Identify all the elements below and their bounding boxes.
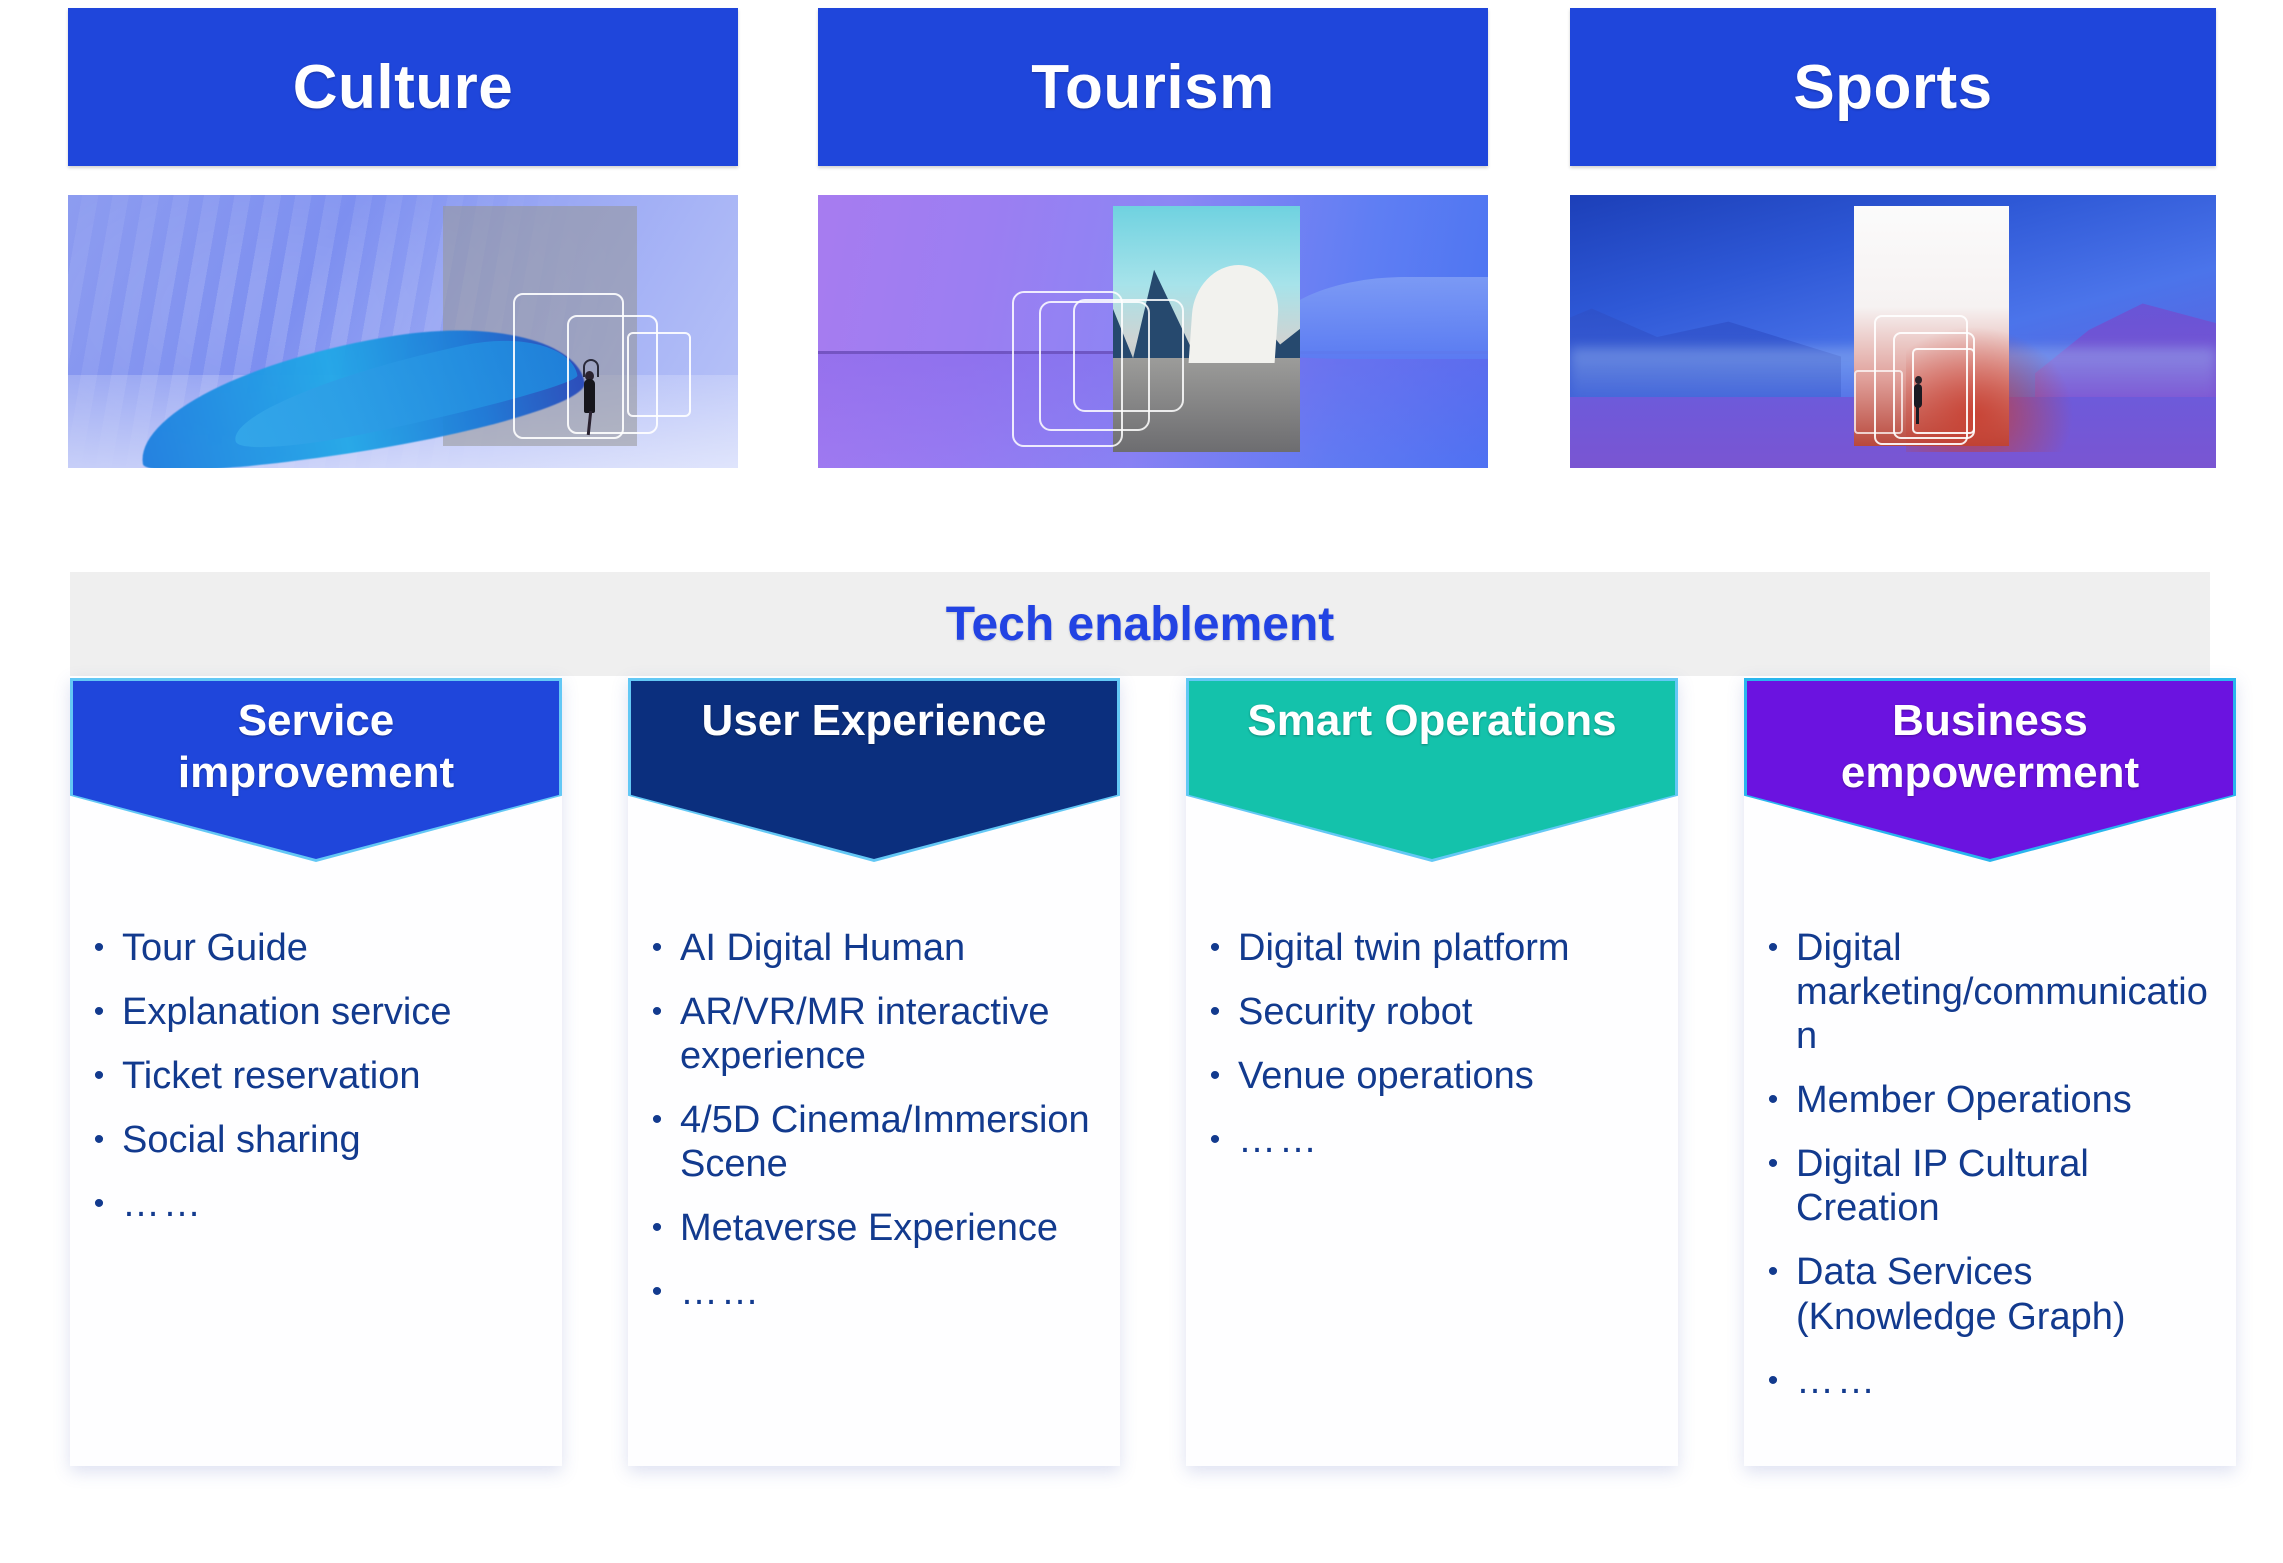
list-item: • Digital IP Cultural Creation: [1750, 1142, 2230, 1230]
list-item-label: Ticket reservation: [122, 1054, 556, 1098]
domain-title-culture: Culture: [293, 52, 514, 123]
pillar-bullet-list: • Digital marketing/communication • Memb…: [1744, 926, 2236, 1423]
pillar-bullet-list: • Tour Guide • Explanation service • Tic…: [70, 926, 562, 1246]
domain-panel-sports: Sports: [1570, 0, 2216, 570]
bullet-marker-icon: •: [76, 1182, 122, 1226]
list-item: • Security robot: [1192, 990, 1672, 1034]
bullet-marker-icon: •: [1750, 1250, 1796, 1338]
list-item: • Data Services (Knowledge Graph): [1750, 1250, 2230, 1338]
list-item-label: Venue operations: [1238, 1054, 1672, 1098]
list-item-label: Security robot: [1238, 990, 1672, 1034]
pillar-title: Service improvement: [107, 695, 525, 799]
domain-header-tourism: Tourism: [818, 8, 1488, 166]
list-item-label: ……: [122, 1182, 556, 1226]
domain-header-sports: Sports: [1570, 8, 2216, 166]
list-item-label: 4/5D Cinema/Immersion Scene: [680, 1098, 1114, 1186]
pillar-bullet-list: • Digital twin platform • Security robot…: [1186, 926, 1678, 1182]
list-item-label: Metaverse Experience: [680, 1206, 1114, 1250]
bullet-marker-icon: •: [76, 926, 122, 970]
tech-enablement-band: Tech enablement: [70, 572, 2210, 676]
domain-image-culture: [68, 195, 738, 468]
domain-title-sports: Sports: [1793, 52, 1992, 123]
pillar-bullet-list: • AI Digital Human • AR/VR/MR interactiv…: [628, 926, 1120, 1335]
bullet-marker-icon: •: [76, 990, 122, 1034]
bullet-marker-icon: •: [634, 1206, 680, 1250]
list-item: • Metaverse Experience: [634, 1206, 1114, 1250]
list-item-label: Digital IP Cultural Creation: [1796, 1142, 2230, 1230]
bullet-marker-icon: •: [634, 990, 680, 1078]
list-item-label: Member Operations: [1796, 1078, 2230, 1122]
list-item: • ……: [634, 1270, 1114, 1314]
pillar-title: Business empowerment: [1781, 695, 2199, 799]
bullet-marker-icon: •: [1750, 926, 1796, 1058]
runner-figure: [1912, 372, 1924, 424]
bullet-marker-icon: •: [76, 1054, 122, 1098]
list-item: • Social sharing: [76, 1118, 556, 1162]
list-item: • ……: [1750, 1359, 2230, 1403]
list-item: • Venue operations: [1192, 1054, 1672, 1098]
pillar-title: User Experience: [665, 695, 1083, 747]
domain-image-tourism: [818, 195, 1488, 468]
frame-outline-icon: [1073, 299, 1184, 412]
bullet-marker-icon: •: [1750, 1359, 1796, 1403]
domain-title-tourism: Tourism: [1031, 52, 1274, 123]
domain-image-sports: [1570, 195, 2216, 468]
list-item: • Tour Guide: [76, 926, 556, 970]
list-item: • ……: [1192, 1118, 1672, 1162]
bullet-marker-icon: •: [1750, 1142, 1796, 1230]
bullet-marker-icon: •: [1192, 990, 1238, 1034]
list-item-label: AR/VR/MR interactive experience: [680, 990, 1114, 1078]
list-item: • Digital twin platform: [1192, 926, 1672, 970]
list-item-label: ……: [1796, 1359, 2230, 1403]
list-item-label: Social sharing: [122, 1118, 556, 1162]
list-item-label: Tour Guide: [122, 926, 556, 970]
pillar-title: Smart Operations: [1223, 695, 1641, 747]
list-item: • Member Operations: [1750, 1078, 2230, 1122]
bullet-marker-icon: •: [634, 1098, 680, 1186]
frame-outline-icon: [1854, 370, 1903, 434]
list-item-label: Digital marketing/communication: [1796, 926, 2230, 1058]
tech-pillar-cards: Service improvement • Tour Guide • Expla…: [0, 676, 2283, 1476]
frame-outline-icon: [627, 332, 691, 418]
domain-header-culture: Culture: [68, 8, 738, 166]
list-item-label: AI Digital Human: [680, 926, 1114, 970]
bullet-marker-icon: •: [1750, 1078, 1796, 1122]
top-domain-row: Culture Tourism: [0, 0, 2283, 570]
list-item: • 4/5D Cinema/Immersion Scene: [634, 1098, 1114, 1186]
list-item: • ……: [76, 1182, 556, 1226]
bullet-marker-icon: •: [1192, 1054, 1238, 1098]
bullet-marker-icon: •: [1192, 1118, 1238, 1162]
list-item-label: Data Services (Knowledge Graph): [1796, 1250, 2230, 1338]
bullet-marker-icon: •: [634, 1270, 680, 1314]
list-item: • Digital marketing/communication: [1750, 926, 2230, 1058]
list-item: • AI Digital Human: [634, 926, 1114, 970]
bullet-marker-icon: •: [1192, 926, 1238, 970]
list-item-label: ……: [680, 1270, 1114, 1314]
list-item: • Ticket reservation: [76, 1054, 556, 1098]
list-item-label: ……: [1238, 1118, 1672, 1162]
list-item: • AR/VR/MR interactive experience: [634, 990, 1114, 1078]
tech-enablement-title: Tech enablement: [946, 597, 1335, 652]
dancer-figure: [581, 359, 597, 435]
domain-panel-culture: Culture: [68, 0, 738, 570]
domain-panel-tourism: Tourism: [818, 0, 1488, 570]
list-item-label: Digital twin platform: [1238, 926, 1672, 970]
bullet-marker-icon: •: [634, 926, 680, 970]
list-item: • Explanation service: [76, 990, 556, 1034]
bullet-marker-icon: •: [76, 1118, 122, 1162]
list-item-label: Explanation service: [122, 990, 556, 1034]
